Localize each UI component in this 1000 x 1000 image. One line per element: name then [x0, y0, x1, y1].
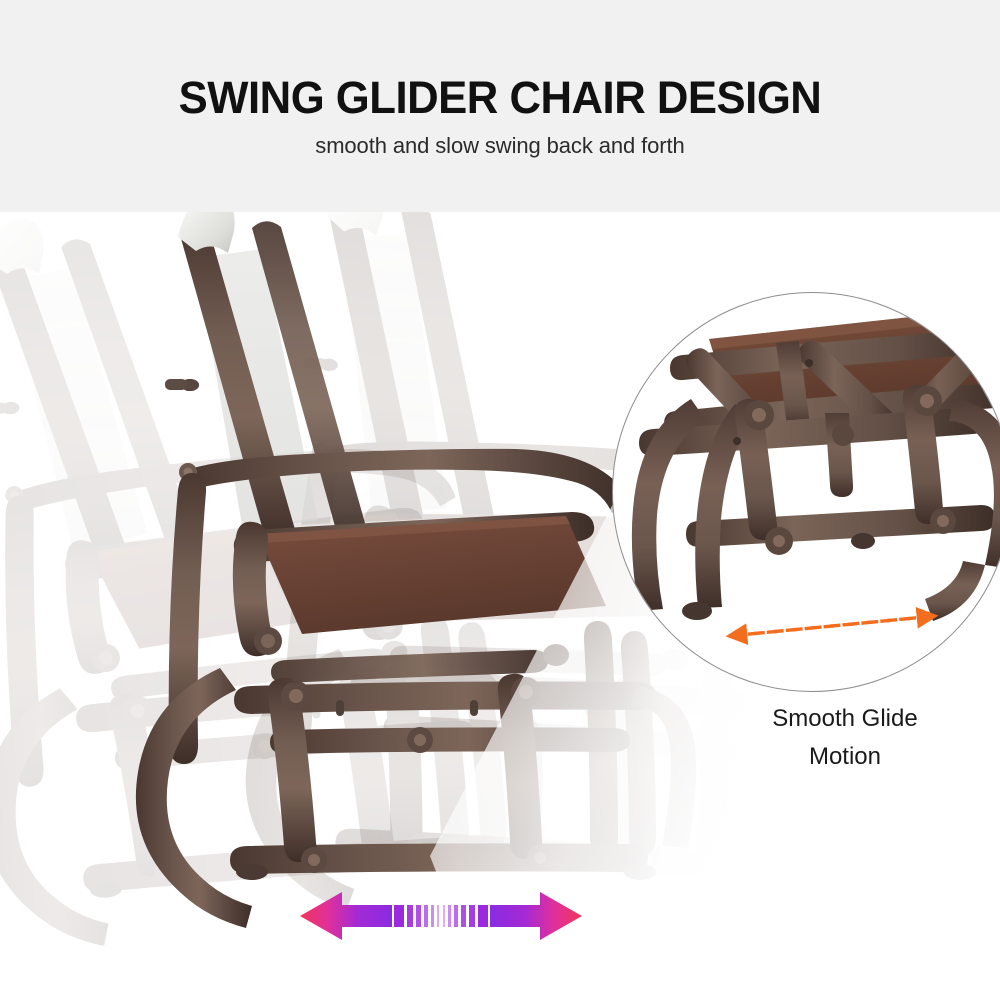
page-subtitle: smooth and slow swing back and forth — [0, 133, 1000, 159]
glide-label-line2: Motion — [700, 738, 990, 776]
right-arrow-icon — [443, 892, 582, 940]
product-feature-image: SWING GLIDER CHAIR DESIGN smooth and slo… — [0, 0, 1000, 1000]
left-arrow-icon — [300, 892, 439, 940]
page-title: SWING GLIDER CHAIR DESIGN — [15, 72, 985, 124]
glide-direction-arrow-icon — [707, 602, 957, 652]
glide-label-line1: Smooth Glide — [700, 700, 990, 738]
detail-callout — [612, 292, 1000, 692]
swing-motion-indicator-icon — [296, 888, 586, 944]
glide-motion-label: Smooth Glide Motion — [700, 700, 990, 776]
